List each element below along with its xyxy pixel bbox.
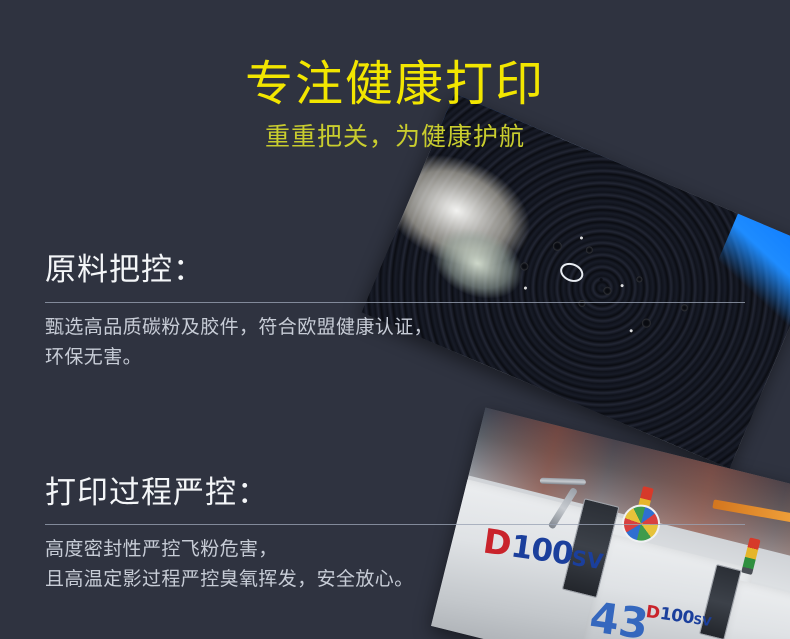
section-process-body: 高度密封性严控飞粉危害， 且高温定影过程严控臭氧挥发，安全放心。 — [45, 534, 414, 594]
section-material: 原料把控： — [45, 252, 205, 288]
photo-toner-blue-accent — [704, 210, 790, 330]
model-suffix: SV — [693, 613, 713, 629]
section-process-divider — [45, 524, 745, 525]
pellet-speck — [635, 275, 643, 283]
pellet-speck — [640, 317, 652, 329]
pellet-speck — [519, 261, 529, 271]
promo-page: 专注健康打印 重重把关，为健康护航 — [0, 0, 790, 639]
pellet-speck — [680, 303, 689, 312]
pellet-speck — [551, 240, 563, 252]
pellet-highlight — [523, 286, 527, 290]
pellet-highlight — [580, 236, 584, 240]
page-subtitle: 重重把关，为健康护航 — [0, 122, 790, 152]
pellet-speck — [577, 299, 586, 308]
page-title: 专注健康打印 — [0, 56, 790, 112]
photo-toner-ring-detail — [557, 259, 586, 285]
section-process: 打印过程严控： — [45, 475, 269, 511]
pellet-highlight — [629, 329, 633, 333]
machine-line-number: 43 — [587, 592, 652, 639]
model-suffix: SV — [570, 546, 604, 574]
pellet-speck — [585, 245, 594, 254]
section-material-heading: 原料把控： — [45, 252, 205, 288]
pellet-highlight — [620, 284, 624, 288]
hero-header: 专注健康打印 重重把关，为健康护航 — [0, 0, 790, 152]
model-number: 100 — [509, 528, 575, 572]
section-material-divider — [45, 302, 745, 303]
pellet-speck — [602, 286, 612, 296]
section-material-body: 甄选高品质碳粉及胶件，符合欧盟健康认证， 环保无害。 — [45, 312, 433, 372]
section-process-heading: 打印过程严控： — [45, 475, 269, 511]
